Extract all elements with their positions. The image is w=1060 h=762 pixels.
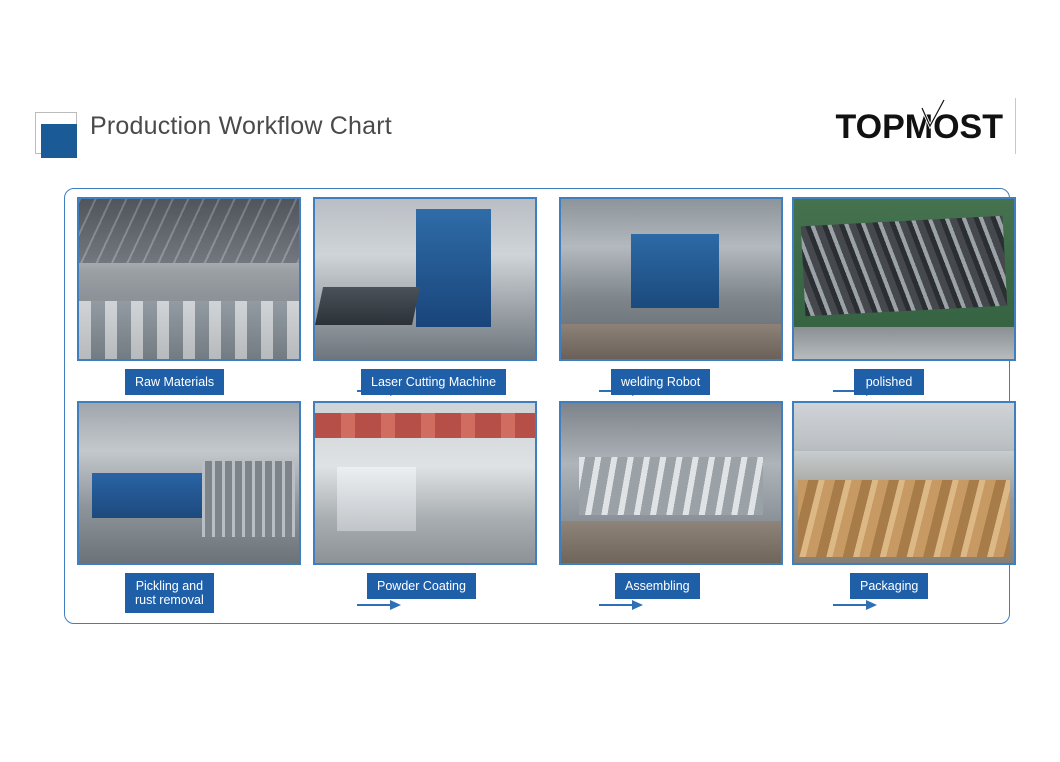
- page-title: Production Workflow Chart: [90, 112, 392, 141]
- workflow-step-packaging[interactable]: Packaging: [792, 401, 1016, 607]
- packaging-photo: [792, 401, 1016, 565]
- laser-cutting-machine-photo: [313, 197, 537, 361]
- workflow-step-welding-robot[interactable]: welding Robot: [559, 197, 783, 403]
- workflow-step-powder-coating[interactable]: Powder Coating: [313, 401, 537, 607]
- polished-parts-photo: [792, 197, 1016, 361]
- workflow-step-pickling-rust-removal[interactable]: Pickling and rust removal: [77, 401, 301, 607]
- powder-coating-photo: [313, 401, 537, 565]
- step-caption: welding Robot: [611, 369, 710, 395]
- workflow-step-raw-materials[interactable]: Raw Materials: [77, 197, 301, 403]
- step-caption: polished: [854, 369, 924, 395]
- brand-logo: TOPMOST: [836, 104, 1017, 150]
- step-caption: Packaging: [850, 573, 928, 599]
- workflow-step-assembling[interactable]: Assembling: [559, 401, 783, 607]
- square-logo-icon: [41, 124, 77, 158]
- workflow-diagram: Raw Materials Laser Cutting Machine weld…: [64, 188, 1010, 624]
- pickling-rust-removal-photo: [77, 401, 301, 565]
- workflow-row-1: Raw Materials Laser Cutting Machine weld…: [65, 197, 1011, 403]
- assembling-photo: [559, 401, 783, 565]
- step-caption: Laser Cutting Machine: [361, 369, 506, 395]
- workflow-row-2: Pickling and rust removal Powder Coating…: [65, 401, 1011, 607]
- step-caption: Raw Materials: [125, 369, 224, 395]
- check-mark-icon: [920, 98, 946, 132]
- step-caption: Powder Coating: [367, 573, 476, 599]
- page-header: Production Workflow Chart TOPMOST: [0, 0, 1060, 180]
- step-caption: Assembling: [615, 573, 700, 599]
- workflow-step-laser-cutting[interactable]: Laser Cutting Machine: [313, 197, 537, 403]
- workflow-step-polished[interactable]: polished: [792, 197, 1016, 403]
- brand-divider: [1015, 98, 1016, 154]
- step-caption: Pickling and rust removal: [125, 573, 214, 613]
- welding-robot-photo: [559, 197, 783, 361]
- warehouse-raw-materials-photo: [77, 197, 301, 361]
